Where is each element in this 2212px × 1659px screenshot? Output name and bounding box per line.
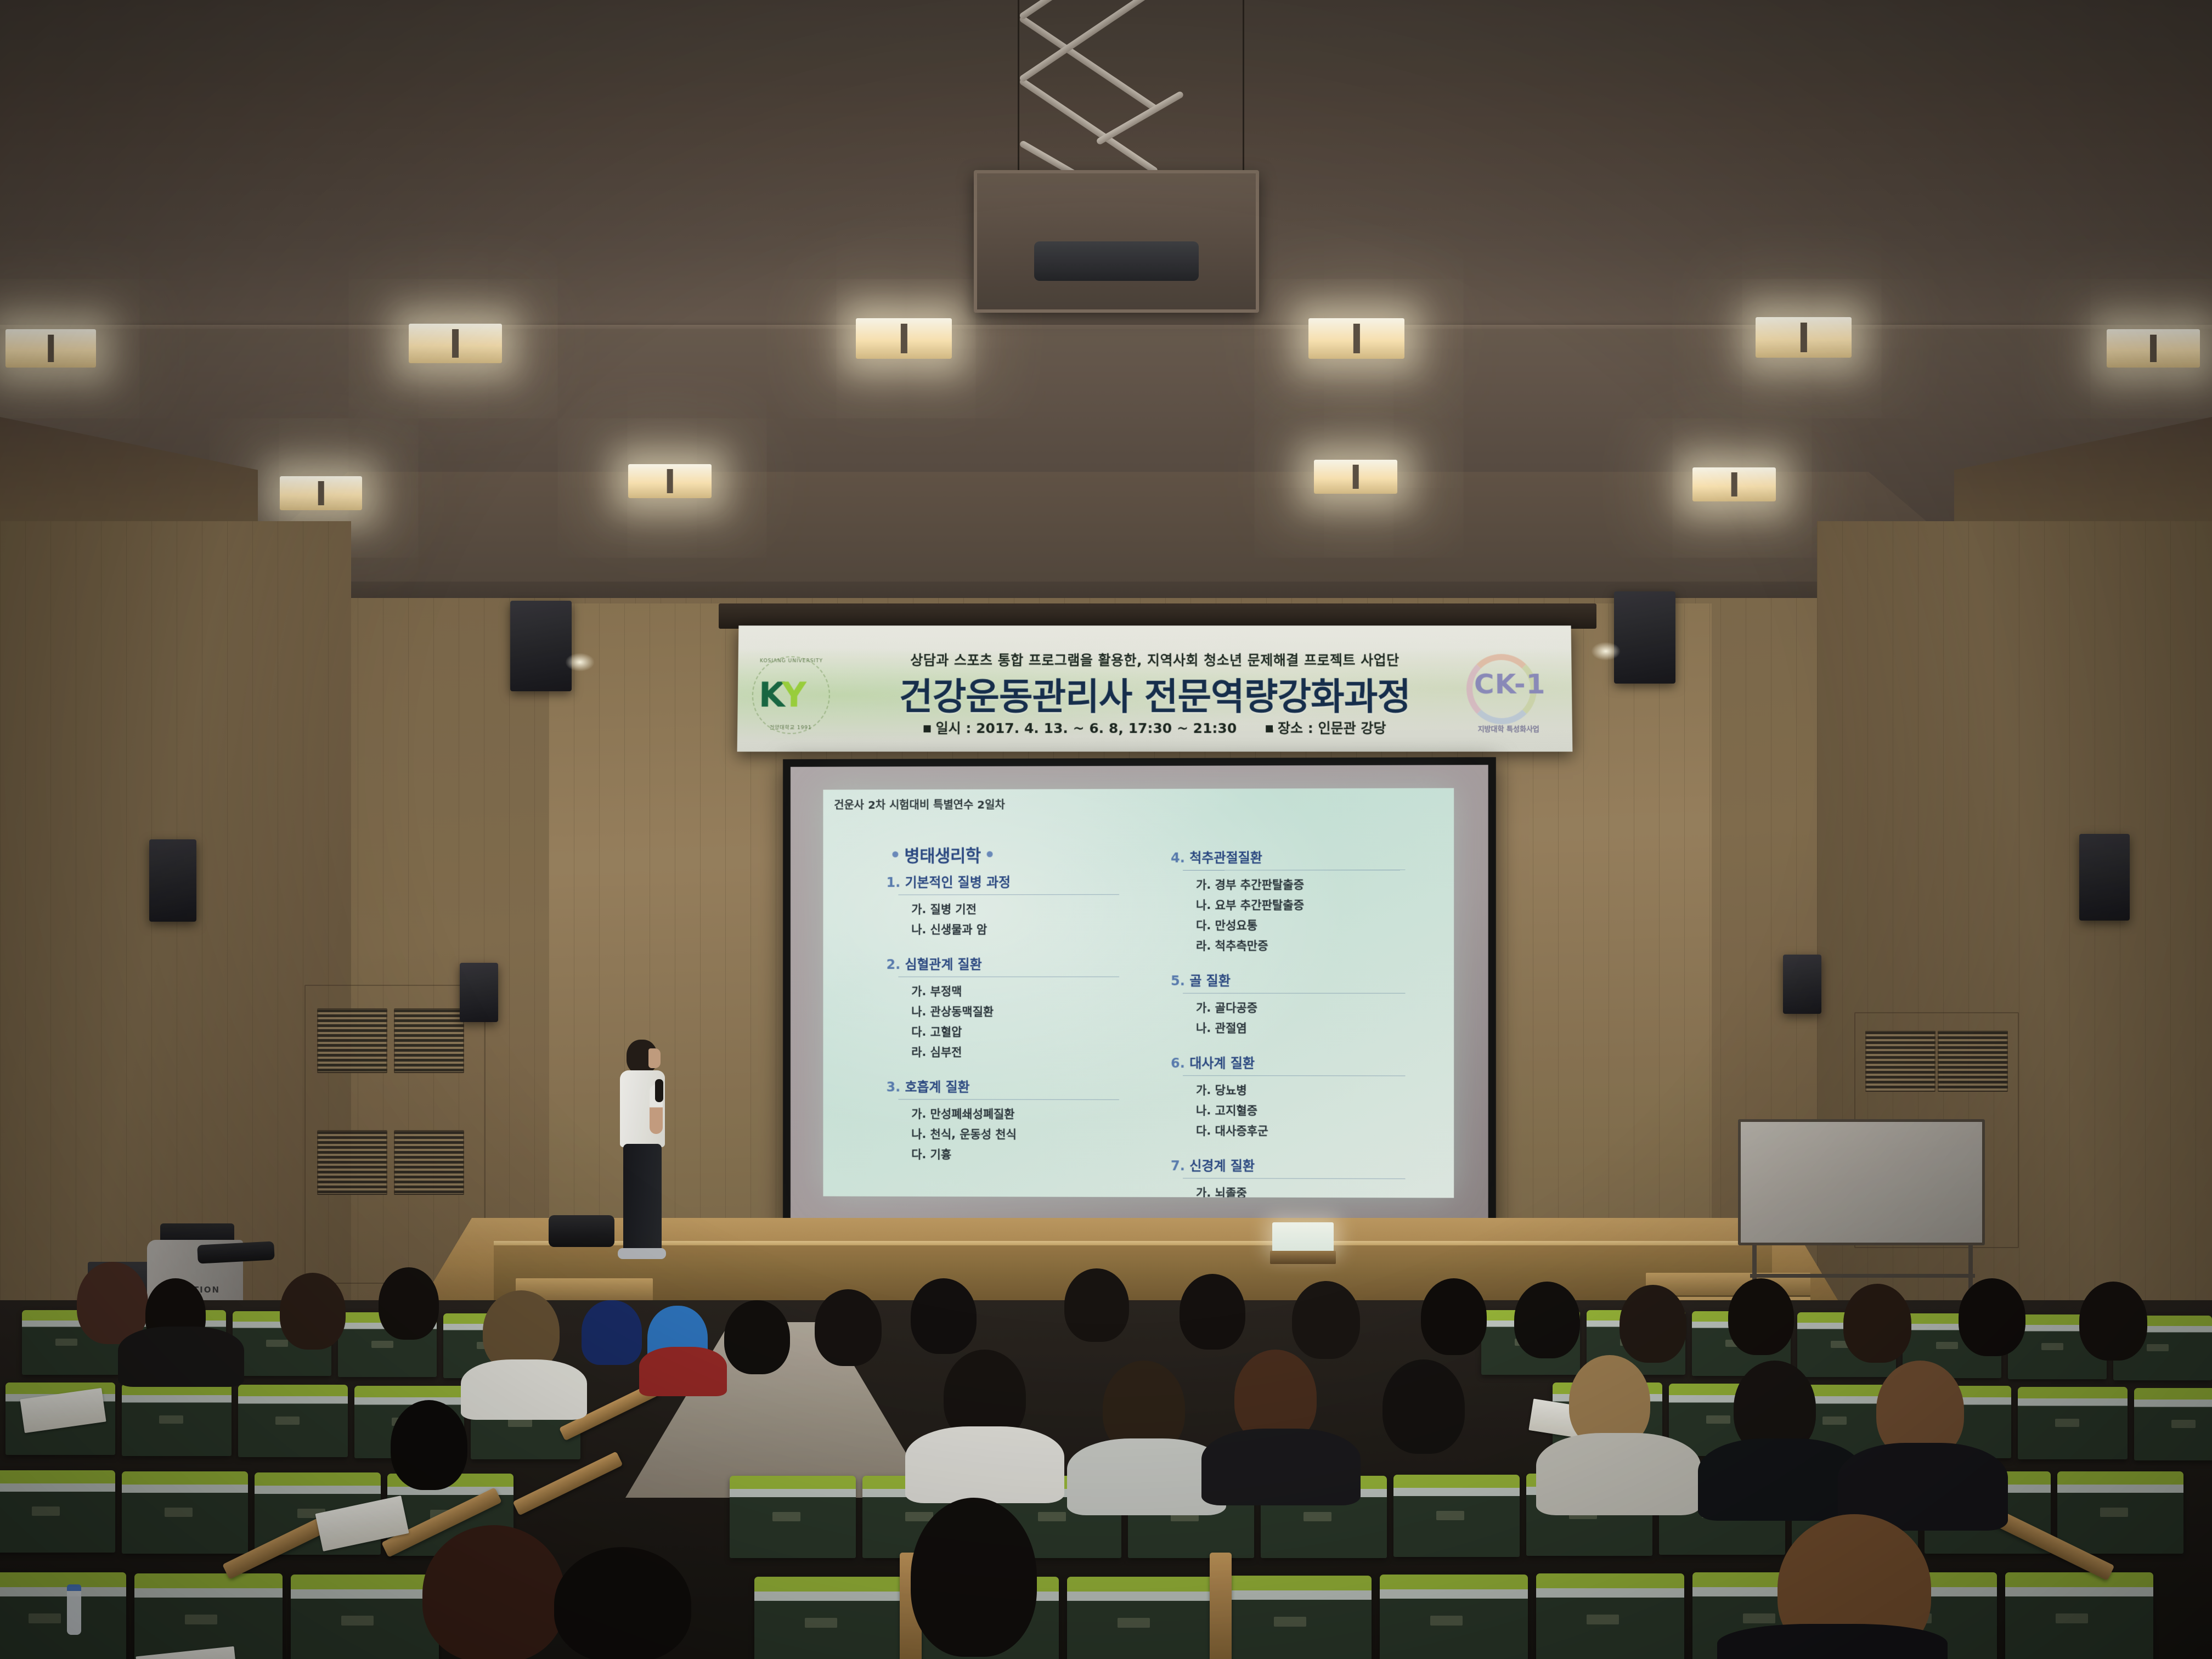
slide-sub-item: 나. 고지혈증 [1196, 1102, 1430, 1119]
audience-head [1728, 1278, 1794, 1355]
slide-sub-item: 나. 요부 추간판탈출증 [1196, 896, 1430, 913]
slide-sub-item: 다. 기흉 [911, 1145, 1143, 1163]
wall-vent-louver [317, 1130, 387, 1195]
banner-date: 일시 : 2017. 4. 13. ~ 6. 8, 17:30 ~ 21:30 [923, 720, 1237, 736]
slide-sub-item: 나. 천식, 운동성 천식 [911, 1125, 1143, 1142]
audience-head [911, 1278, 977, 1354]
section-divider [1183, 993, 1406, 994]
auditorium-seat[interactable] [2005, 1572, 2153, 1659]
presenter-face [648, 1048, 661, 1068]
projection-screen: 건운사 2차 시험대비 특별연수 2일차 병태생리학 1. 기본적인 질병 과정… [783, 757, 1496, 1230]
auditorium-seat[interactable] [1536, 1573, 1684, 1659]
auditorium-seat[interactable] [291, 1575, 439, 1659]
auditorium-seat[interactable] [1223, 1576, 1372, 1659]
slide-section: 4. 척추관절질환 가. 경부 추간판탈출증 나. 요부 추간판탈출증 다. 만… [1171, 847, 1430, 953]
slide-section-heading: 6. 대사계 질환 [1171, 1052, 1430, 1075]
auditorium-seat[interactable] [730, 1476, 856, 1558]
auditorium-seat[interactable] [2018, 1387, 2128, 1459]
presentation-slide: 건운사 2차 시험대비 특별연수 2일차 병태생리학 1. 기본적인 질병 과정… [823, 788, 1454, 1198]
slide-section: 6. 대사계 질환 가. 당뇨병 나. 고지혈증 다. 대사증후군 [1171, 1052, 1430, 1139]
audience-head [911, 1498, 1037, 1657]
wall-vent-louver [1865, 1030, 1936, 1092]
audience-shoulders [905, 1426, 1064, 1503]
proscenium-beam [719, 603, 1596, 629]
auditorium-seat[interactable] [122, 1471, 248, 1554]
audience-head [280, 1273, 346, 1350]
microphone-icon [655, 1079, 663, 1102]
audience-head [422, 1525, 565, 1659]
auditorium-seat[interactable] [238, 1385, 348, 1457]
laptop-screen [1272, 1222, 1334, 1252]
ceiling-light-fixture [409, 324, 502, 363]
audience-head [1383, 1359, 1465, 1454]
ck1-mark: CK-1 [1474, 670, 1557, 698]
wall-speaker [510, 601, 572, 691]
wall-speaker [2079, 834, 2130, 921]
audience-head [1421, 1278, 1487, 1355]
slide-section: 1. 기본적인 질병 과정 가. 질병 기전 나. 신생물과 암 [887, 871, 1143, 937]
presenter-trousers [623, 1144, 662, 1251]
bullet-square-icon [1266, 725, 1273, 732]
auditorium-photo: KOSIANG UNIVERSITY K Y 건양대학교 1991 상담과 스포… [0, 0, 2212, 1659]
auditorium-seat[interactable] [1380, 1575, 1528, 1659]
slide-sub-item: 가. 부정맥 [911, 983, 1143, 999]
bullet-square-icon [923, 725, 930, 732]
wall-speaker [1783, 955, 1821, 1014]
whiteboard[interactable] [1738, 1119, 1985, 1245]
slide-section-heading: 1. 기본적인 질병 과정 [887, 871, 1143, 894]
wall-vent-louver [394, 1130, 464, 1195]
slide-sub-item: 나. 관절염 [1196, 1019, 1430, 1036]
projector-scissor-lift [1009, 5, 1223, 187]
presenter-shoe [635, 1248, 666, 1259]
slide-sub-item: 다. 고혈압 [911, 1023, 1143, 1040]
slide-section-heading: 7. 신경계 질환 [1171, 1155, 1430, 1177]
audience-shoulders [639, 1347, 727, 1396]
presenter-speaker [609, 1040, 675, 1270]
audience-head [815, 1289, 882, 1366]
section-divider [898, 1099, 1119, 1100]
section-divider [1183, 1075, 1406, 1076]
ceiling-light-fixture [2107, 329, 2200, 368]
auditorium-seat[interactable] [1067, 1577, 1215, 1659]
water-bottle [67, 1584, 81, 1635]
slide-section-heading: 3. 호흡계 질환 [887, 1076, 1143, 1098]
slide-sub-item: 가. 경부 추간판탈출증 [1196, 876, 1430, 893]
wall-speaker [149, 839, 196, 922]
slide-section-heading: 2. 심혈관계 질환 [887, 953, 1143, 975]
audience-head [1620, 1285, 1686, 1363]
auditorium-seat[interactable] [2057, 1471, 2183, 1554]
wall-speaker [460, 963, 498, 1022]
section-divider [1183, 870, 1406, 871]
event-banner: KOSIANG UNIVERSITY K Y 건양대학교 1991 상담과 스포… [737, 625, 1573, 752]
stage-bag [549, 1215, 614, 1247]
audience-head [1514, 1282, 1580, 1358]
slide-sub-item: 가. 뇌졸중 [1196, 1184, 1430, 1198]
slide-sub-item: 나. 관상동맥질환 [911, 1003, 1143, 1019]
section-divider [898, 894, 1119, 895]
auditorium-seat[interactable] [754, 1577, 902, 1659]
audience-head [2079, 1282, 2147, 1361]
screen-surface: 건운사 2차 시험대비 특별연수 2일차 병태생리학 1. 기본적인 질병 과정… [791, 765, 1488, 1222]
audience-shoulders [1536, 1433, 1701, 1515]
ceiling-light-fixture [280, 476, 362, 510]
audience-head [724, 1300, 790, 1374]
slide-left-column: 1. 기본적인 질병 과정 가. 질병 기전 나. 신생물과 암 2. 심혈관계… [887, 871, 1143, 1179]
audience-head [1843, 1284, 1911, 1363]
seat-tablet-arm [1210, 1553, 1232, 1659]
slide-right-column: 4. 척추관절질환 가. 경부 추간판탈출증 나. 요부 추간판탈출증 다. 만… [1171, 847, 1430, 1198]
auditorium-seat[interactable] [2134, 1388, 2212, 1460]
audience-head [1959, 1278, 2025, 1356]
bullet-dot-icon [893, 851, 899, 857]
banner-title: 건강운동관리사 전문역량강화과정 [737, 667, 1572, 720]
audience-head [582, 1300, 642, 1365]
audience-shoulders [461, 1359, 587, 1420]
banner-subtitle: 상담과 스포츠 통합 프로그램을 활용한, 지역사회 청소년 문제해결 프로젝트… [738, 650, 1571, 669]
slide-sub-item: 가. 당뇨병 [1196, 1081, 1430, 1098]
slide-section-heading: 4. 척추관절질환 [1171, 847, 1430, 869]
audience-head [1292, 1281, 1360, 1359]
ceiling-light-fixture [1308, 318, 1404, 359]
audience-shoulders [1717, 1624, 1948, 1659]
slide-header: 건운사 2차 시험대비 특별연수 2일차 [834, 796, 1005, 812]
banner-place: 장소 : 인문관 강당 [1266, 720, 1386, 736]
audience-shoulders [118, 1327, 244, 1387]
slide-sub-item: 나. 신생물과 암 [911, 921, 1143, 937]
slide-section: 7. 신경계 질환 가. 뇌졸중 나. 파킨슨병 다. 알츠하이머병(치매) [1171, 1155, 1430, 1198]
laptop-base [1270, 1251, 1336, 1264]
slide-sub-item: 라. 심부전 [911, 1043, 1143, 1060]
audience-head [1180, 1274, 1245, 1350]
stage-spotlight-glow [1591, 642, 1621, 661]
wall-speaker [1614, 591, 1675, 684]
auditorium-seat[interactable] [0, 1470, 115, 1553]
audience-head [554, 1547, 691, 1659]
slide-sub-item: 가. 만성폐쇄성폐질환 [911, 1105, 1143, 1122]
ceiling-light-fixture [5, 329, 96, 368]
slide-section: 5. 골 질환 가. 골다공증 나. 관절염 [1171, 970, 1430, 1036]
slide-section: 2. 심혈관계 질환 가. 부정맥 나. 관상동맥질환 다. 고혈압 라. 심부… [887, 953, 1143, 1060]
presenter-laptop [1270, 1222, 1336, 1264]
banner-meta-row: 일시 : 2017. 4. 13. ~ 6. 8, 17:30 ~ 21:30 … [737, 718, 1572, 737]
wall-vent-louver [394, 1008, 464, 1073]
bullet-dot-icon [987, 851, 993, 857]
auditorium-seat[interactable] [1393, 1475, 1520, 1557]
wall-vent-louver [1938, 1030, 2008, 1092]
ceiling-light-fixture [1756, 317, 1852, 358]
section-divider [1183, 1178, 1406, 1179]
slide-section-heading: 5. 골 질환 [1171, 970, 1430, 992]
slide-sub-item: 가. 골다공증 [1196, 999, 1430, 1015]
auditorium-seat[interactable] [0, 1572, 126, 1659]
ceiling-light-fixture [856, 318, 952, 359]
audience-head [1064, 1268, 1129, 1342]
slide-section: 3. 호흡계 질환 가. 만성폐쇄성폐질환 나. 천식, 운동성 천식 다. 기… [887, 1076, 1143, 1163]
audience-head [391, 1400, 467, 1490]
slide-sub-item: 다. 만성요통 [1196, 916, 1430, 933]
ck1-caption: 지방대학 특성화사업 [1459, 723, 1558, 733]
section-divider [898, 977, 1119, 977]
wall-vent-louver [317, 1008, 387, 1073]
audience-shoulders [1201, 1429, 1361, 1505]
projector-drop-wire [1243, 0, 1244, 198]
auditorium-seat[interactable] [122, 1384, 232, 1456]
slide-sub-item: 가. 질병 기전 [911, 900, 1143, 917]
ceiling-light-fixture [1314, 460, 1397, 494]
slide-sub-item: 다. 대사증후군 [1196, 1122, 1430, 1139]
projector-drop-wire [1018, 0, 1019, 198]
stage-spotlight-glow [565, 653, 595, 672]
control-station-lid[interactable] [197, 1241, 275, 1263]
projector-icon [1034, 241, 1199, 281]
ceiling-light-fixture [628, 464, 712, 498]
audience-head [379, 1267, 439, 1340]
slide-sub-item: 라. 척추측만증 [1196, 937, 1430, 953]
ceiling-light-fixture [1692, 467, 1776, 501]
ck1-program-logo: CK-1 지방대학 특성화사업 [1458, 651, 1558, 741]
auditorium-seat[interactable] [134, 1573, 283, 1659]
